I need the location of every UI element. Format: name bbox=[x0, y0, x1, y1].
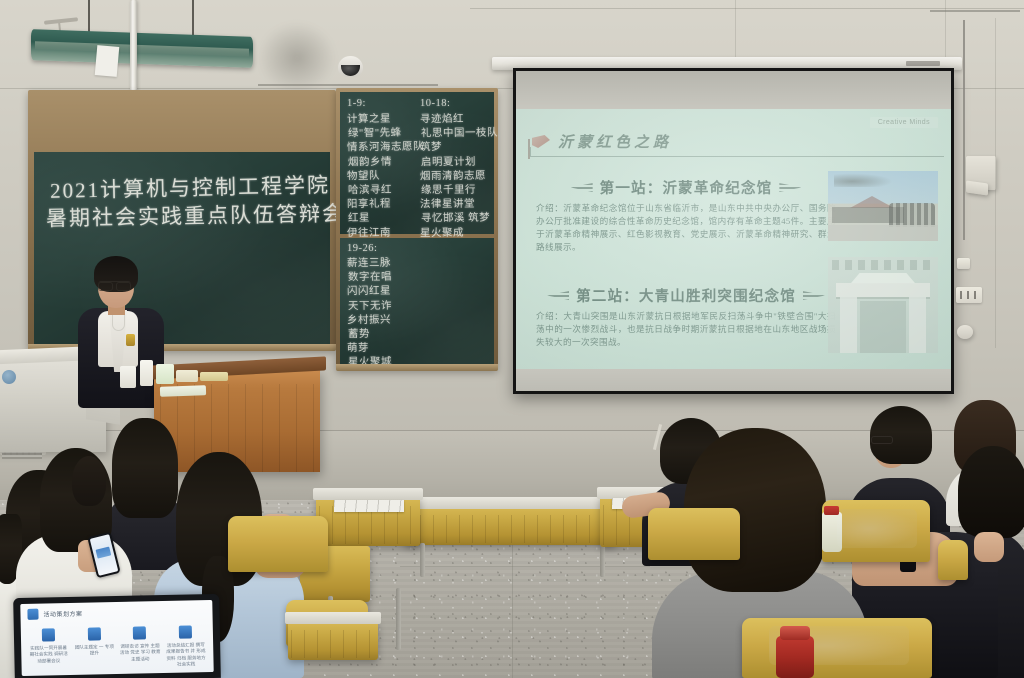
station-2-title: 第二站：大青山胜利突围纪念馆 bbox=[576, 285, 796, 306]
chalk-team-name: 筑梦 bbox=[420, 140, 442, 155]
slide-header: 沂蒙红色之路 bbox=[532, 131, 672, 152]
laptop-doc-column: 团队主题定 一 专项提升 bbox=[74, 627, 116, 670]
desk-item-paper-stack bbox=[156, 364, 174, 384]
chalk-team-name: 情系河海志愿队 bbox=[347, 140, 424, 156]
doc-icon bbox=[133, 626, 146, 639]
chalk-team-name: 闪闪红星 bbox=[347, 284, 391, 300]
student-hand bbox=[974, 532, 1004, 562]
screen-brand-logo bbox=[906, 61, 940, 66]
sculpture-group-shape bbox=[889, 203, 935, 227]
banner-shape bbox=[832, 260, 934, 270]
student-hair bbox=[870, 406, 932, 464]
station-1-title: 第一站：沂蒙革命纪念馆 bbox=[600, 177, 773, 198]
doc-icon bbox=[179, 625, 192, 638]
arrow-right-icon bbox=[779, 183, 801, 192]
arch-column-right bbox=[909, 297, 926, 353]
laptop-doc-text: 实践队一同开展暑期社会实践 调研活动部署会议 bbox=[28, 645, 69, 665]
desk-item-ruler bbox=[200, 372, 228, 381]
power-outlet[interactable] bbox=[956, 287, 982, 303]
laptop-doc-columns: 实践队一同开展暑期社会实践 调研活动部署会议团队主题定 一 专项提升调研走访 宣… bbox=[21, 621, 214, 676]
presentation-slide: Creative Minds 沂蒙红色之路 第一站：沂蒙革命纪念馆 介绍：沂蒙革… bbox=[516, 109, 951, 369]
laptop-doc-text: 活动总结汇报 撰写成果报告书 并 形成 资料 归档 服务地方社会实践 bbox=[165, 642, 206, 668]
arch-column-left bbox=[840, 297, 857, 353]
ground-shape bbox=[828, 225, 938, 241]
projection-screen-frame: Creative Minds 沂蒙红色之路 第一站：沂蒙革命纪念馆 介绍：沂蒙革… bbox=[513, 68, 954, 394]
chalk-team-name: 伊往江南 bbox=[347, 225, 391, 241]
desk-papers bbox=[334, 500, 404, 512]
desk-surface bbox=[313, 488, 423, 500]
chair-back bbox=[648, 508, 740, 560]
classroom-scene: 2021计算机与控制工程学院 暑期社会实践重点队伍答辩会 1-9: 10-18:… bbox=[0, 0, 1024, 678]
laptop-doc-text: 团队主题定 一 专项提升 bbox=[74, 644, 115, 658]
bottle-cap bbox=[780, 626, 810, 640]
chalk-team-name: 红星 bbox=[348, 211, 370, 226]
slide-header-rule bbox=[530, 156, 944, 157]
student-desk bbox=[288, 620, 378, 660]
station-1-body: 介绍：沂蒙革命纪念馆位于山东省临沂市，是山东中共中央办公厅、国务院办公厅批准建设… bbox=[536, 202, 836, 254]
water-bottle-red[interactable] bbox=[776, 636, 814, 678]
slide-watermark: Creative Minds bbox=[870, 117, 938, 128]
laptop-doc-column: 实践队一同开展暑期社会实践 调研活动部署会议 bbox=[28, 628, 70, 671]
chalk-team-name: 物望队 bbox=[347, 169, 380, 184]
chalk-team-name: 萌芽 bbox=[347, 341, 369, 356]
desk-item-cup bbox=[140, 360, 153, 386]
ceiling-cable bbox=[258, 84, 438, 86]
student-hair-bun bbox=[72, 456, 106, 506]
chair-back bbox=[228, 516, 328, 572]
slide-photo-archway bbox=[828, 257, 938, 353]
laptop-doc-text: 调研走访 宣传 主题 活动 党史 学习 教育 主题活动 bbox=[120, 643, 161, 663]
projection-screen-surface: Creative Minds 沂蒙红色之路 第一站：沂蒙革命纪念馆 介绍：沂蒙革… bbox=[516, 71, 951, 391]
arch-opening bbox=[860, 301, 906, 353]
dome-security-camera bbox=[338, 56, 363, 77]
desk-leg bbox=[396, 588, 401, 650]
chalk-team-name: 寻迹焰红 bbox=[420, 112, 464, 127]
chalk-team-name: 烟雨清韵志愿 bbox=[420, 168, 486, 184]
presenter-glasses bbox=[98, 281, 131, 288]
chalk-title-line-2: 暑期社会实践重点队伍答辩会 bbox=[46, 197, 345, 232]
arch-top-shape bbox=[836, 283, 930, 297]
chalk-team-name: 乡村振兴 bbox=[347, 313, 391, 329]
chalk-team-name: 烟韵乡情 bbox=[348, 154, 392, 170]
chalk-section-right-header: 10-18: bbox=[420, 96, 450, 111]
presenter-badge bbox=[126, 334, 135, 346]
laptop-doc-title: 活动策划方案 bbox=[43, 609, 82, 619]
desk-surface bbox=[285, 612, 381, 624]
chalk-section-bottom-header: 19-26: bbox=[347, 241, 377, 256]
desk-item-box bbox=[120, 366, 136, 388]
student-glasses bbox=[871, 436, 893, 444]
chair-armrest bbox=[938, 540, 968, 580]
slide-photo-memorial-hall bbox=[828, 171, 938, 241]
bottle-cap-red bbox=[824, 506, 839, 515]
station-2-body: 介绍：大青山突围是山东沂蒙抗日根据地军民反扫荡斗争中"铁壁合围"大扫荡中的一次惨… bbox=[536, 310, 836, 349]
doc-icon bbox=[87, 627, 100, 640]
chalk-team-name: 蓄势 bbox=[348, 327, 370, 342]
doc-icon bbox=[42, 628, 55, 641]
floor-tile-line bbox=[400, 566, 650, 567]
chalk-team-name: 天下无诈 bbox=[348, 298, 392, 314]
water-bottle-clear[interactable] bbox=[822, 512, 842, 552]
red-flag-icon bbox=[532, 135, 550, 148]
chalk-team-name: 启明夏计划 bbox=[421, 154, 476, 170]
slide-header-title: 沂蒙红色之路 bbox=[558, 131, 672, 152]
laptop-doc-column: 调研走访 宣传 主题 活动 党史 学习 教育 主题活动 bbox=[119, 626, 161, 669]
slide-station-2: 第二站：大青山胜利突围纪念馆 介绍：大青山突围是山东沂蒙抗日根据地军民反扫荡斗争… bbox=[536, 285, 836, 349]
chair-back bbox=[742, 618, 932, 678]
desk-leg bbox=[600, 543, 605, 577]
school-emblem-icon bbox=[2, 370, 16, 384]
laptop-screen: 活动策划方案 实践队一同开展暑期社会实践 调研活动部署会议团队主题定 一 专项提… bbox=[20, 600, 213, 676]
student-desk bbox=[404, 505, 616, 545]
chalk-tray bbox=[336, 364, 498, 371]
desk-leg bbox=[420, 543, 425, 577]
arrow-right-icon bbox=[803, 291, 825, 300]
wall-knob[interactable] bbox=[957, 325, 973, 339]
station-1-title-row: 第一站：沂蒙革命纪念馆 bbox=[536, 177, 836, 198]
screen-top-band bbox=[516, 71, 951, 109]
pull-switch-cord bbox=[963, 20, 965, 240]
wall-seam bbox=[995, 18, 996, 348]
arrow-left-icon bbox=[547, 291, 569, 300]
app-logo-icon bbox=[27, 609, 38, 620]
laptop-doc-column: 活动总结汇报 撰写成果报告书 并 形成 资料 归档 服务地方社会实践 bbox=[165, 625, 207, 668]
lectern-paper bbox=[95, 45, 120, 77]
tree-shape bbox=[834, 173, 894, 187]
chalk-section-left-header: 1-9: bbox=[347, 96, 366, 111]
arrow-left-icon bbox=[571, 183, 593, 192]
wall-cable bbox=[930, 10, 1020, 12]
student-laptop[interactable]: 活动策划方案 实践队一同开展暑期社会实践 调研活动部署会议团队主题定 一 专项提… bbox=[13, 594, 221, 678]
light-switch[interactable] bbox=[957, 258, 970, 269]
desk-surface bbox=[401, 497, 619, 509]
wall-seam bbox=[470, 8, 1024, 9]
station-2-title-row: 第二站：大青山胜利突围纪念馆 bbox=[536, 285, 836, 306]
desk-item-folder bbox=[160, 385, 206, 397]
chalk-team-name: 星火聚成 bbox=[420, 225, 464, 240]
desk-item-notes bbox=[176, 370, 198, 382]
chalk-team-name: 寻忆邯溪 筑梦 bbox=[421, 211, 490, 227]
slide-station-1: 第一站：沂蒙革命纪念馆 介绍：沂蒙革命纪念馆位于山东省临沂市，是山东中共中央办公… bbox=[536, 177, 836, 254]
